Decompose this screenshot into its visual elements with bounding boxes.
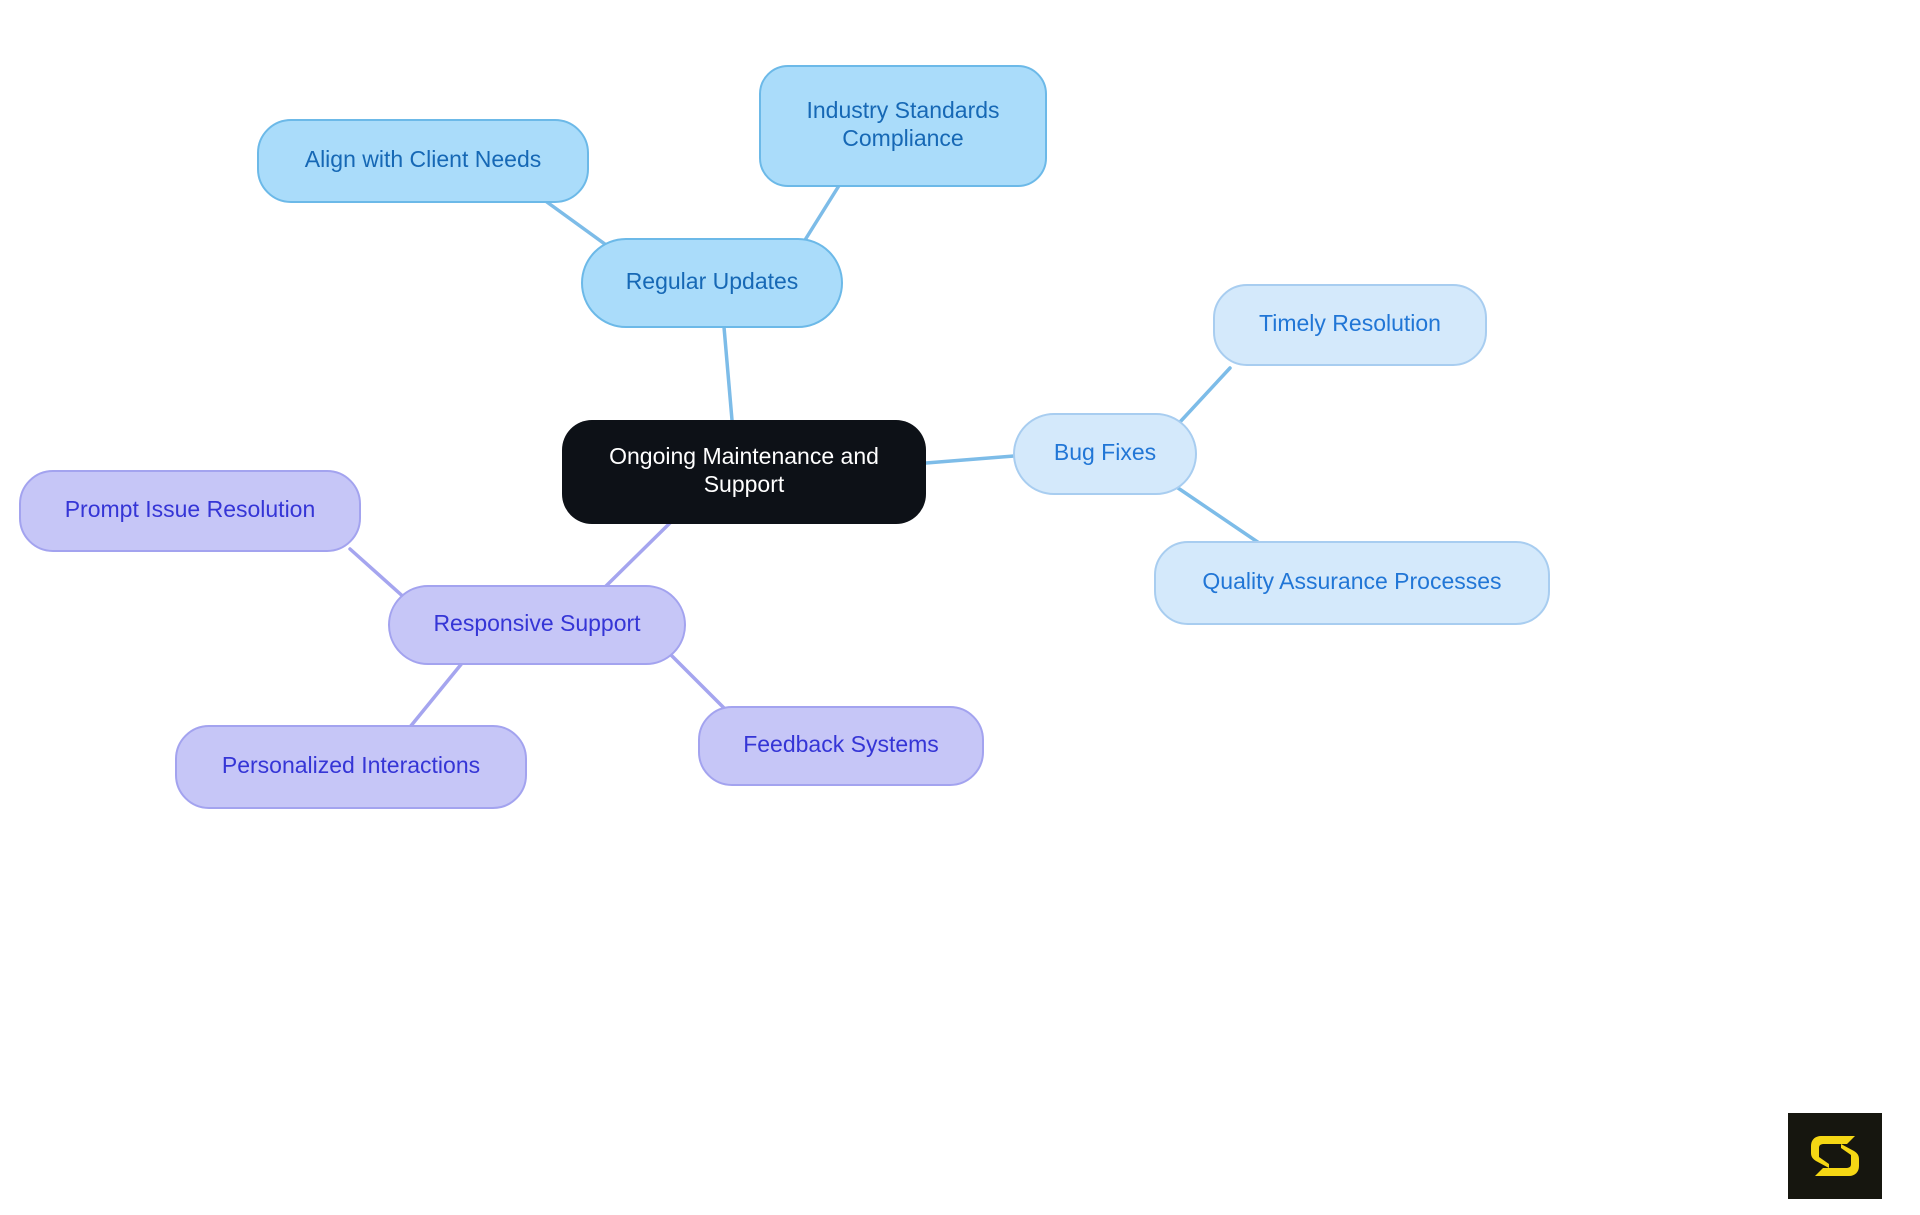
mindmap-node-label-align-with-client-needs: Align with Client Needs	[305, 146, 542, 172]
mindmap-node-prompt-issue-resolution[interactable]: Prompt Issue Resolution	[20, 471, 360, 551]
mindmap-node-label-prompt-issue-resolution: Prompt Issue Resolution	[65, 496, 316, 522]
mindmap-node-label-timely-resolution: Timely Resolution	[1259, 310, 1441, 336]
mindmap-edge-root-to-regular-updates	[724, 327, 732, 420]
brand-logo-s-icon	[1805, 1126, 1865, 1186]
mindmap-edge-root-to-responsive-support	[604, 521, 672, 588]
mindmap-node-bug-fixes[interactable]: Bug Fixes	[1014, 414, 1196, 494]
mindmap-node-responsive-support[interactable]: Responsive Support	[389, 586, 685, 664]
mindmap-node-label-industry-standards-compliance: Compliance	[842, 125, 963, 151]
mindmap-edge-regular-updates-to-industry-standards-compliance	[800, 184, 840, 248]
mindmap-node-root[interactable]: Ongoing Maintenance andSupport	[562, 420, 926, 524]
mindmap-node-align-with-client-needs[interactable]: Align with Client Needs	[258, 120, 588, 202]
mindmap-node-label-root: Support	[704, 471, 785, 497]
mindmap-canvas: Align with Client NeedsIndustry Standard…	[0, 0, 1920, 1215]
mindmap-edge-bug-fixes-to-quality-assurance-processes	[1178, 488, 1262, 545]
mindmap-node-label-industry-standards-compliance: Industry Standards	[806, 97, 999, 123]
mindmap-node-label-feedback-systems: Feedback Systems	[743, 731, 939, 757]
mindmap-edge-root-to-bug-fixes	[926, 456, 1014, 463]
mindmap-node-label-root: Ongoing Maintenance and	[609, 443, 879, 469]
mindmap-edge-responsive-support-to-personalized-interactions	[410, 662, 463, 727]
mindmap-svg: Align with Client NeedsIndustry Standard…	[0, 0, 1920, 1215]
mindmap-node-label-personalized-interactions: Personalized Interactions	[222, 752, 480, 778]
mindmap-edge-bug-fixes-to-timely-resolution	[1180, 368, 1230, 422]
mindmap-node-feedback-systems[interactable]: Feedback Systems	[699, 707, 983, 785]
mindmap-node-timely-resolution[interactable]: Timely Resolution	[1214, 285, 1486, 365]
mindmap-node-label-bug-fixes: Bug Fixes	[1054, 439, 1156, 465]
mindmap-node-label-quality-assurance-processes: Quality Assurance Processes	[1202, 568, 1501, 594]
mindmap-node-regular-updates[interactable]: Regular Updates	[582, 239, 842, 327]
mindmap-node-personalized-interactions[interactable]: Personalized Interactions	[176, 726, 526, 808]
mindmap-node-label-regular-updates: Regular Updates	[626, 268, 799, 294]
brand-logo[interactable]	[1788, 1113, 1882, 1199]
mindmap-edge-responsive-support-to-prompt-issue-resolution	[350, 549, 407, 600]
mindmap-node-industry-standards-compliance[interactable]: Industry StandardsCompliance	[760, 66, 1046, 186]
nodes-layer: Align with Client NeedsIndustry Standard…	[20, 66, 1549, 808]
mindmap-edge-responsive-support-to-feedback-systems	[671, 655, 728, 712]
mindmap-node-quality-assurance-processes[interactable]: Quality Assurance Processes	[1155, 542, 1549, 624]
mindmap-node-label-responsive-support: Responsive Support	[433, 610, 641, 636]
